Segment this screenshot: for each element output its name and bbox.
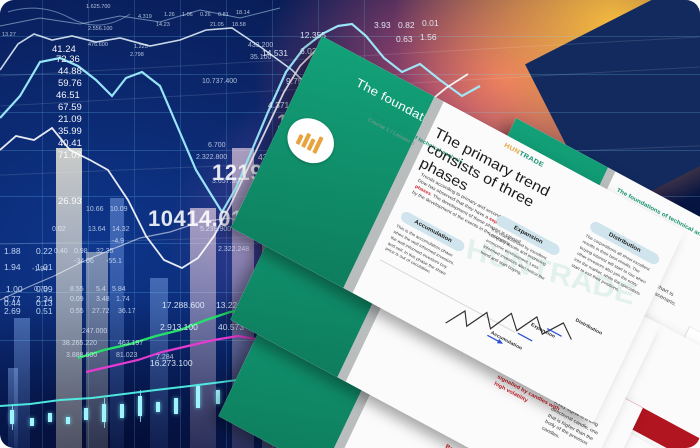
slide-deck: The foundations of technical analysis Co…	[0, 0, 700, 448]
brand-logo	[280, 110, 341, 172]
brand-suffix: TRADE	[518, 150, 545, 169]
bar-chart-icon	[291, 121, 330, 160]
promo-card: 41.24 72.36 44.88 59.76 46.51 67.59 21.0…	[0, 0, 700, 448]
column-accumulation: Accumulation This is the accumulation ph…	[384, 210, 467, 286]
